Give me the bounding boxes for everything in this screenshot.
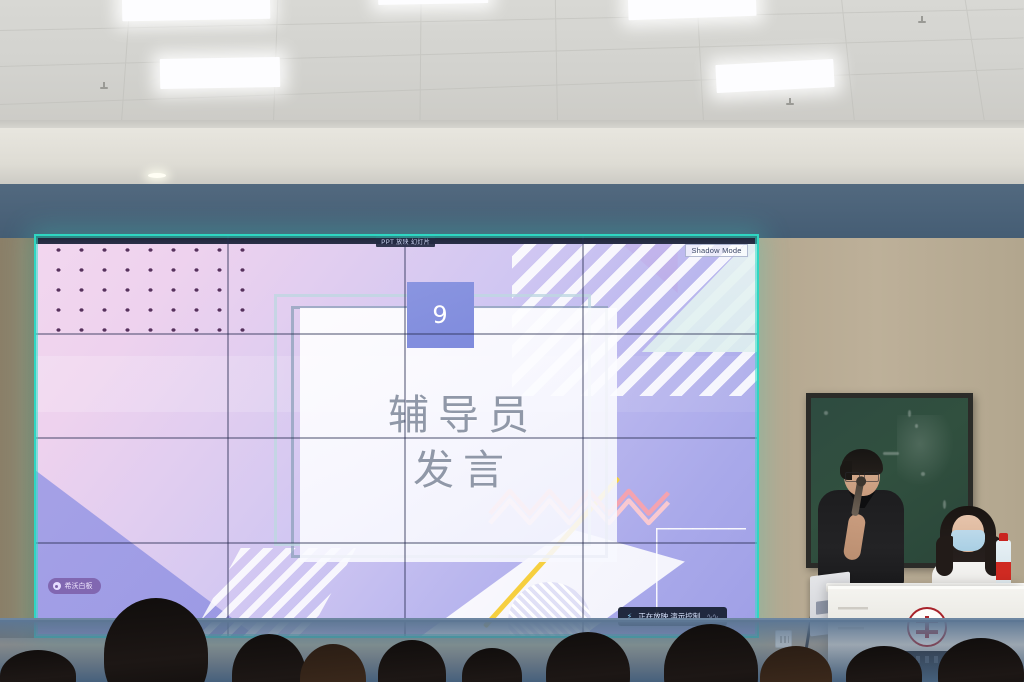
bottle-cap [999,533,1008,541]
audience-head [546,632,630,682]
audience [0,572,1024,682]
slide-title-line-1: 辅导员 [300,388,617,443]
audience-head [0,650,76,682]
slide-title: 辅导员 发言 [300,388,617,499]
polka-dot-pattern-icon [47,240,256,348]
sprinkler-head-icon [100,82,108,91]
slide-number-badge: 9 [407,282,473,348]
acoustic-panel-band [0,184,1024,238]
sprinkler-head-icon [786,98,794,107]
face-mask-icon [951,530,985,551]
sprinkler-head-icon [918,16,926,25]
auditorium-scene: 9 辅导员 发言 PPT 放映 幻灯片 Shadow Mode 希沃白板 ⚡ 正… [0,0,1024,682]
upper-wall [0,128,1024,188]
app-tab-label[interactable]: PPT 放映 幻灯片 [376,236,435,247]
audience-head [938,638,1024,682]
shadow-mode-label[interactable]: Shadow Mode [685,244,747,257]
recessed-downlight [148,173,166,178]
audience-head [300,644,366,682]
slide-title-line-2: 发言 [300,443,617,498]
audience-head [462,648,522,682]
ceiling [0,0,1024,128]
audience-head [104,598,208,682]
chalk-smear [897,415,954,488]
audience-head [664,624,758,682]
audience-head [232,634,306,682]
ceiling-light-panel [122,0,271,21]
ceiling-light-panel [160,57,281,89]
audience-head [846,646,922,682]
audience-head [760,646,832,682]
audience-head [378,640,446,682]
attendee-hair-strand [936,536,953,576]
slide-number-text: 9 [432,301,448,329]
